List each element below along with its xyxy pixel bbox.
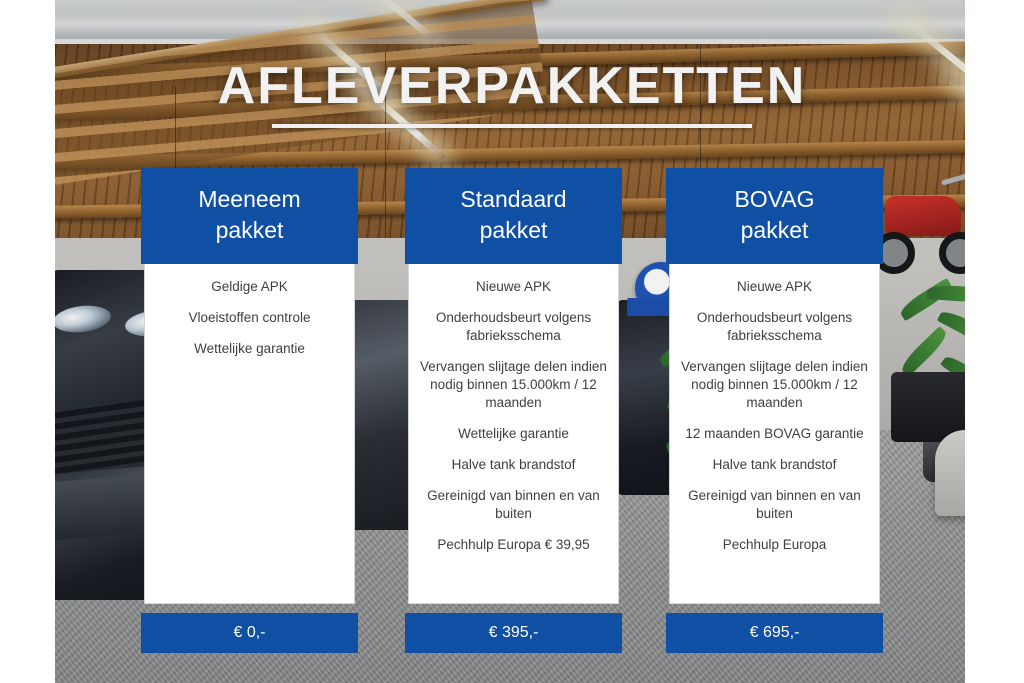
card-feature-list: Geldige APK Vloeistoffen controle Wettel… [144,264,355,604]
card-feature-list: Nieuwe APK Onderhoudsbeurt volgens fabri… [408,264,619,604]
feature-item: Pechhulp Europa € 39,95 [419,536,608,554]
feature-item: Halve tank brandstof [680,456,869,474]
feature-item: Wettelijke garantie [419,425,608,443]
feature-item: Pechhulp Europa [680,536,869,554]
pricing-card-standaard[interactable]: Standaard pakket Nieuwe APK Onderhoudsbe… [405,168,622,653]
feature-item: Vervangen slijtage delen indien nodig bi… [419,358,608,412]
feature-item: Vloeistoffen controle [155,309,344,327]
card-title-line2: pakket [480,217,548,243]
feature-item: Onderhoudsbeurt volgens fabrieksschema [680,309,869,345]
feature-item: Wettelijke garantie [155,340,344,358]
showroom-chair [935,430,965,516]
feature-item: Gereinigd van binnen en van buiten [419,487,608,523]
slide-canvas: AFLEVERPAKKETTEN Meeneem pakket Geldige … [0,0,1024,683]
card-header: Meeneem pakket [141,168,358,264]
feature-item: Nieuwe APK [680,278,869,296]
card-header: BOVAG pakket [666,168,883,264]
feature-item: Halve tank brandstof [419,456,608,474]
page-title: AFLEVERPAKKETTEN [0,56,1024,116]
card-price[interactable]: € 695,- [666,613,883,653]
feature-item: 12 maanden BOVAG garantie [680,425,869,443]
pricing-card-meeneem[interactable]: Meeneem pakket Geldige APK Vloeistoffen … [141,168,358,653]
card-price[interactable]: € 0,- [141,613,358,653]
card-title-line1: BOVAG [734,186,814,212]
title-underline-rule [272,124,752,128]
pricing-card-bovag[interactable]: BOVAG pakket Nieuwe APK Onderhoudsbeurt … [666,168,883,653]
card-title-line2: pakket [741,217,809,243]
feature-item: Geldige APK [155,278,344,296]
feature-item: Onderhoudsbeurt volgens fabrieksschema [419,309,608,345]
card-feature-list: Nieuwe APK Onderhoudsbeurt volgens fabri… [669,264,880,604]
card-price[interactable]: € 395,- [405,613,622,653]
feature-item: Vervangen slijtage delen indien nodig bi… [680,358,869,412]
headlight [55,303,112,336]
card-title-line1: Meeneem [198,186,300,212]
plant-leaf [898,326,950,377]
feature-item: Gereinigd van binnen en van buiten [680,487,869,523]
card-title-line2: pakket [216,217,284,243]
card-title-line1: Standaard [460,186,566,212]
scooter-body [885,196,961,236]
scooter-wheel [939,232,965,274]
scooter-handlebar [941,171,965,185]
card-header: Standaard pakket [405,168,622,264]
feature-item: Nieuwe APK [419,278,608,296]
